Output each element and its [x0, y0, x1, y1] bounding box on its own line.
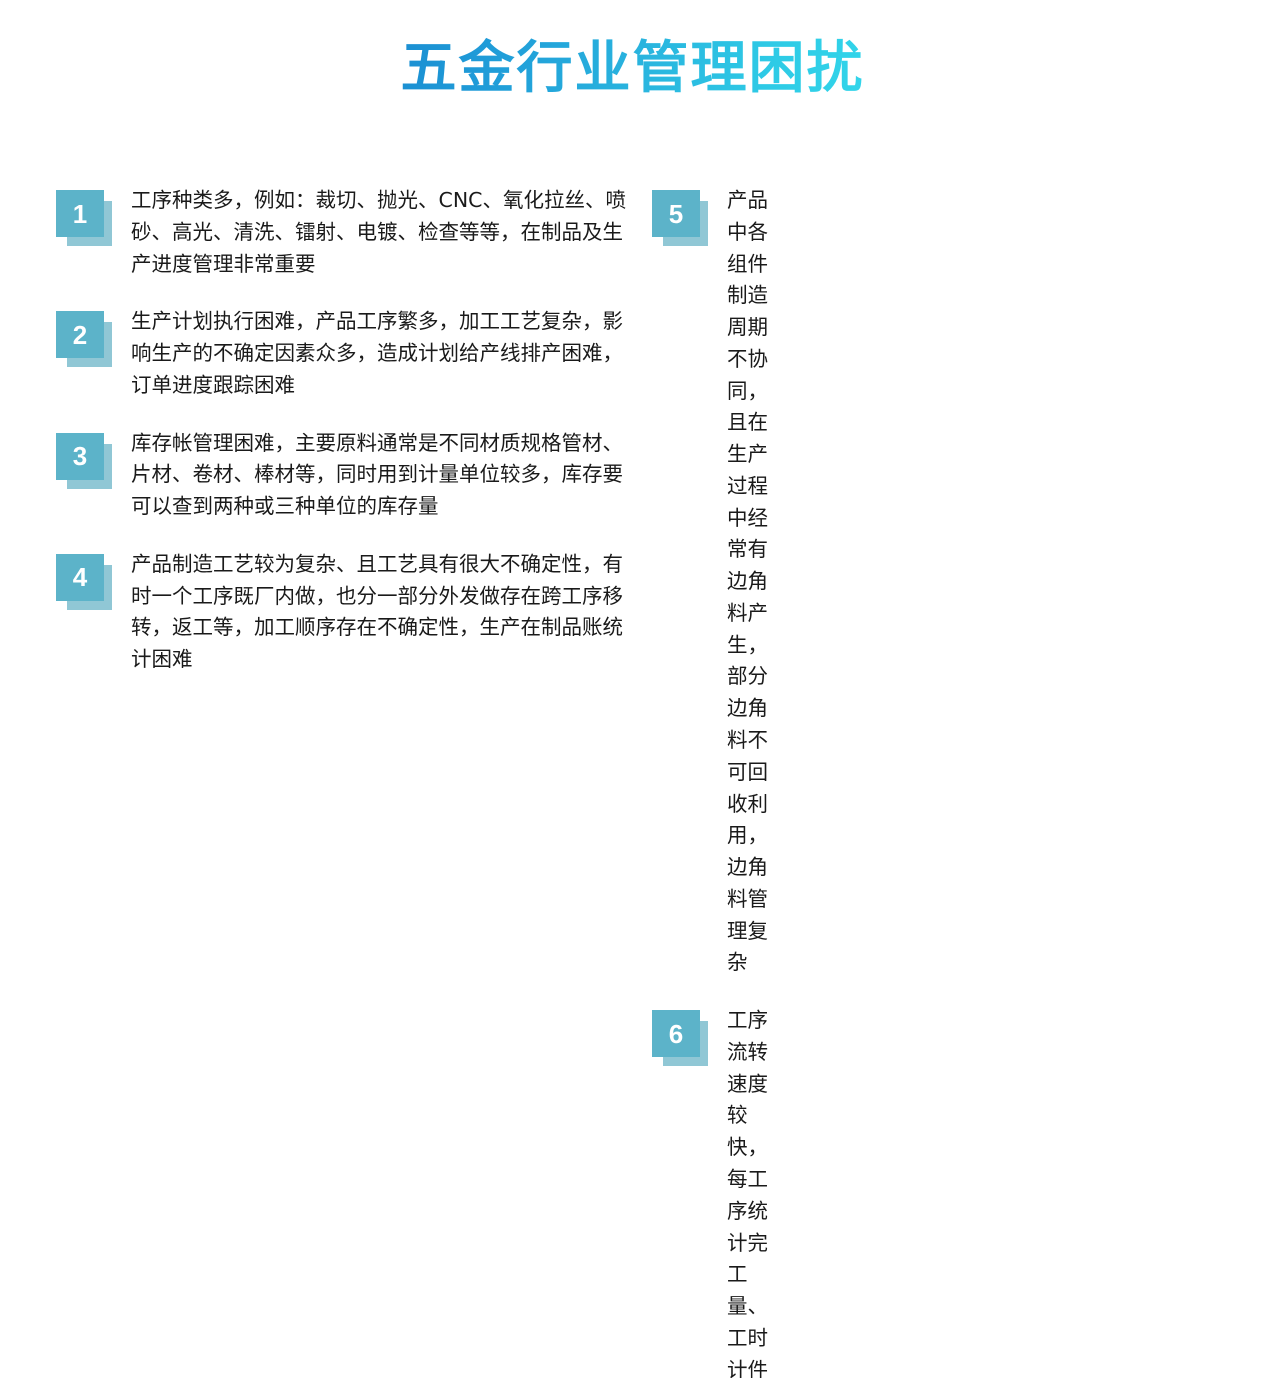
badge-number: 2 [73, 322, 87, 348]
badge-front-square-icon: 1 [56, 190, 104, 237]
content-columns: 1 工序种类多，例如：裁切、抛光、CNC、氧化拉丝、喷砂、高光、清洗、镭射、电镀… [0, 185, 1265, 1378]
badge-number: 5 [669, 201, 683, 227]
badge-front-square-icon: 5 [652, 190, 700, 237]
number-badge-1: 1 [56, 190, 118, 246]
number-badge-2: 2 [56, 311, 118, 367]
badge-front-square-icon: 2 [56, 311, 104, 358]
badge-front-square-icon: 6 [652, 1010, 700, 1057]
list-item-text: 工序流转速度较快，每工序统计完工量、工时计件产量的工作量大，如何快速完工回报，统… [727, 1005, 768, 1378]
badge-number: 1 [73, 201, 87, 227]
number-badge-5: 5 [652, 190, 714, 246]
number-badge-6: 6 [652, 1010, 714, 1066]
badge-number: 3 [73, 443, 87, 469]
title-container: 五金行业管理困扰 [0, 36, 1265, 100]
number-badge-4: 4 [56, 554, 118, 610]
list-item-text: 产品中各组件制造周期不协同，且在生产过程中经常有边角料产生，部分边角料不可回收利… [727, 185, 768, 979]
badge-number: 4 [73, 564, 87, 590]
badge-front-square-icon: 4 [56, 554, 104, 601]
number-badge-3: 3 [56, 433, 118, 489]
badge-number: 6 [669, 1021, 683, 1047]
badge-front-square-icon: 3 [56, 433, 104, 480]
page-title: 五金行业管理困扰 [401, 36, 865, 100]
slide-root: 五金行业管理困扰 1 工序种类多，例如：裁切、抛光、CNC、氧化拉丝、喷砂、高光… [0, 0, 1265, 689]
